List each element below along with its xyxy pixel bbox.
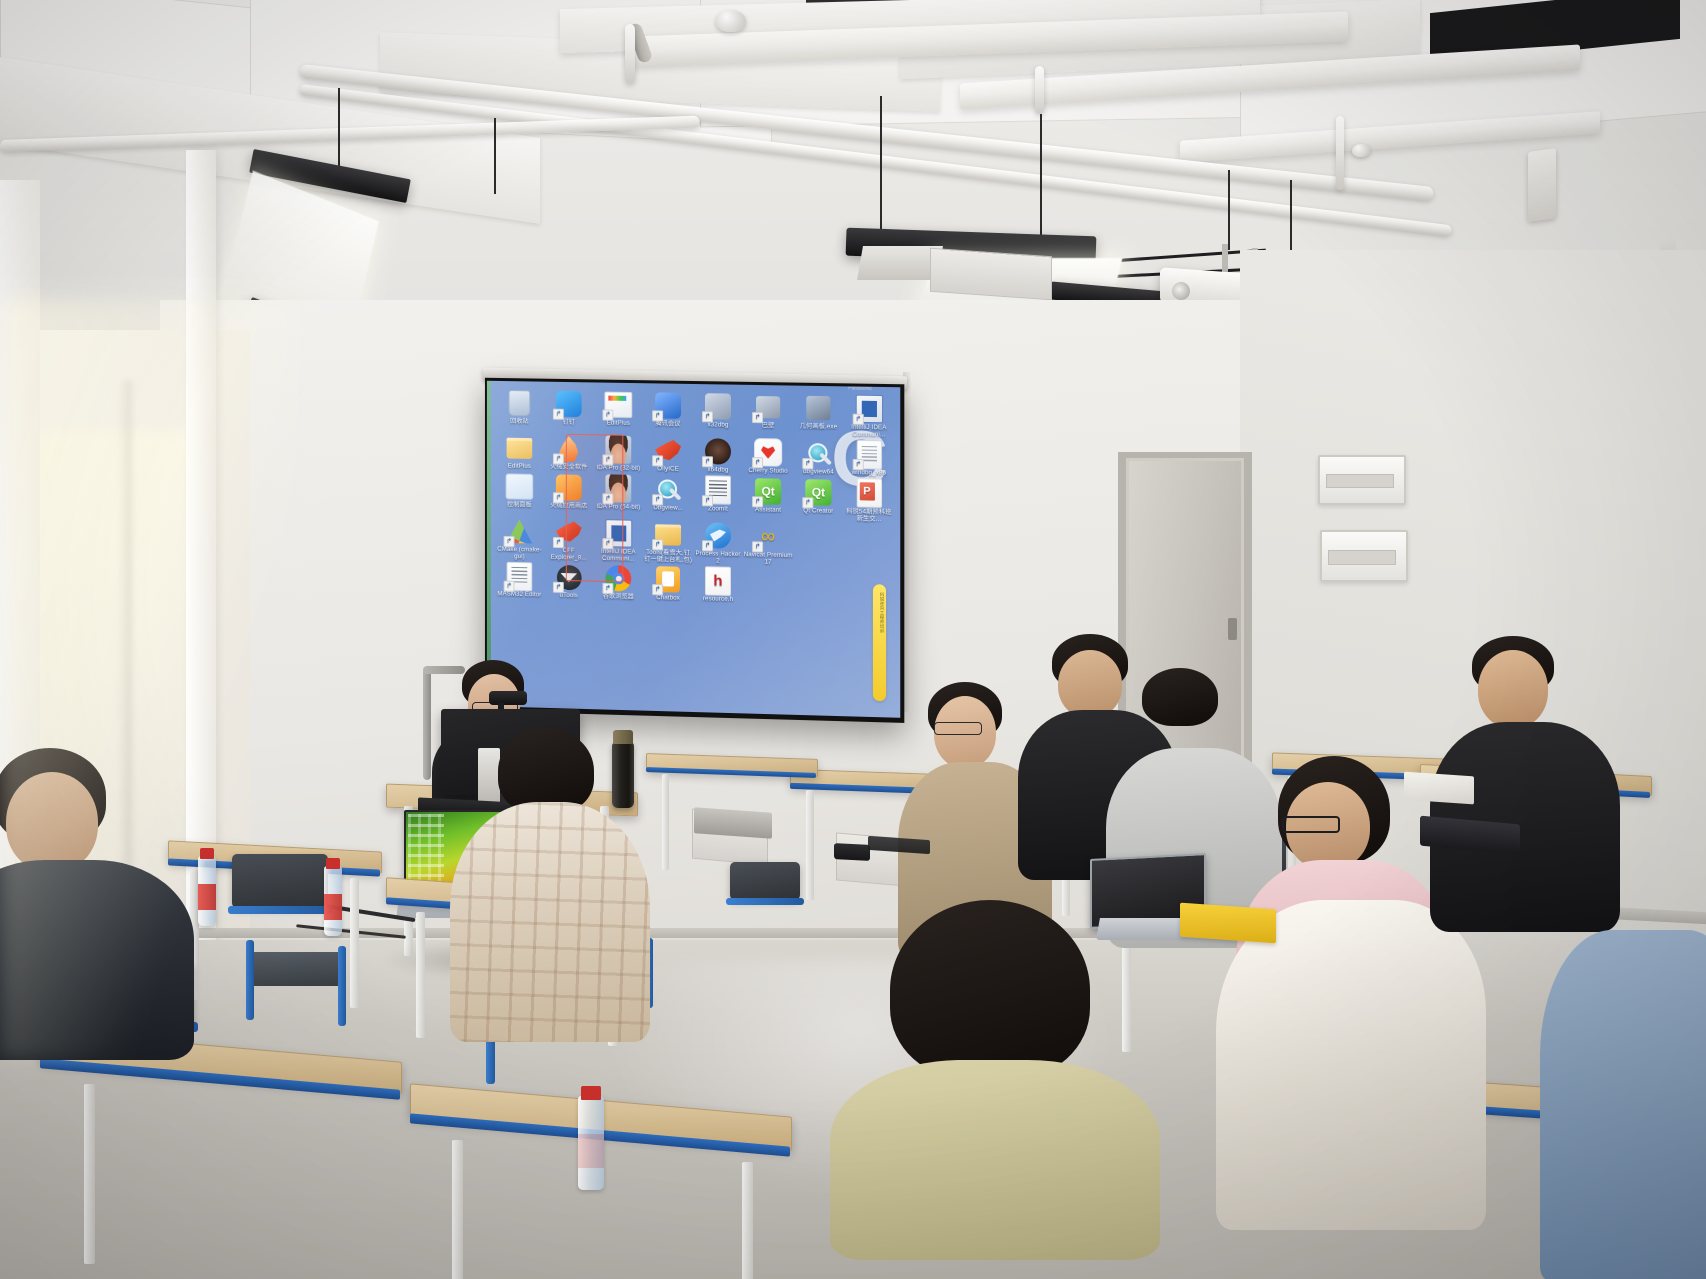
desktop-icon-label: CMake (cmake-gui)	[495, 546, 544, 561]
bottle-label	[198, 884, 216, 910]
desktop-icon-label: resource.h	[703, 596, 733, 604]
classroom-photo: C 回收站钉钉EditPlus腾讯会议x32dbg巴壁几何画板.exeIntel…	[0, 0, 1706, 1279]
side-banner: 科锐逆向工程师培训	[873, 584, 886, 701]
desk-leg	[806, 790, 814, 900]
wall-device	[1528, 148, 1556, 222]
desktop-icon-glyph	[704, 521, 732, 550]
desktop-icon[interactable]: IntelliJ IDEA Communi...	[844, 392, 895, 439]
desktop-icon-glyph	[506, 434, 534, 462]
desktop-icon[interactable]: Dbgview...	[643, 473, 693, 519]
desktop-icon-label: x64dbg	[708, 467, 729, 475]
bottle-label	[578, 1134, 604, 1168]
desktop-icon-glyph	[704, 476, 732, 505]
desktop-icon-label: x32dbg	[708, 421, 729, 429]
desktop-icon-glyph	[855, 395, 883, 424]
screen-brand-label: Panasonic	[848, 385, 872, 391]
desktop-icon-glyph	[506, 517, 534, 545]
desktop-icon-glyph	[704, 438, 732, 467]
panel-slot	[1328, 550, 1396, 565]
projection-screen[interactable]: C 回收站钉钉EditPlus腾讯会议x32dbg巴壁几何画板.exeIntel…	[487, 381, 900, 718]
desktop-icon[interactable]: x64dbg	[693, 435, 743, 474]
desktop-icon[interactable]: 巴壁	[743, 391, 793, 437]
desktop-icon-label: Dbgview...	[653, 504, 682, 512]
desktop-icon-label: windbg_x86	[852, 469, 886, 477]
student-head	[1058, 650, 1122, 718]
hanging-wire	[338, 88, 340, 168]
student-glasses	[1282, 816, 1340, 833]
desktop-icon-glyph	[604, 391, 632, 419]
desktop-icon-label: Cherry Studio	[748, 467, 787, 475]
desktop-icon-label: uTools	[560, 592, 578, 600]
desktop-icon-glyph: ∞	[754, 522, 782, 551]
desktop-icon[interactable]: EditPlus	[594, 388, 644, 434]
desktop-icon-label: Tools(看雪大.钉钉一键上台札.包)	[643, 549, 693, 564]
desk-leg	[350, 878, 359, 1008]
desktop-icon[interactable]: CMake (cmake-gui)	[495, 515, 544, 561]
desktop-icon[interactable]: 控制面板	[495, 470, 544, 516]
desktop-icon-glyph	[654, 475, 682, 504]
desktop-icon-glyph	[654, 520, 682, 549]
desktop-icon-label: Navicat Premium 17	[743, 551, 793, 567]
bottle-cap	[200, 848, 214, 859]
desktop-icon[interactable]: 科锐54期预科班新生交...	[844, 476, 895, 523]
desktop-icon-row: MASM32 EditoruTools谷歌浏览器Chatboxhresource…	[495, 560, 898, 608]
desk-leg	[84, 1084, 95, 1264]
desk-cable-tray	[694, 807, 772, 838]
laptop-desktop-icons	[408, 814, 444, 888]
desktop-icon[interactable]: Tools(看雪大.钉钉一键上台札.包)	[643, 518, 693, 564]
desktop-icon[interactable]: Process Hacker 2	[693, 519, 743, 566]
desk-leg	[1122, 932, 1131, 1052]
projector-lens	[1172, 282, 1190, 300]
desktop-icon-label: ZoomIt	[708, 505, 728, 513]
desktop-icon-grid: 回收站钉钉EditPlus腾讯会议x32dbg巴壁几何画板.exeIntelli…	[495, 387, 898, 608]
door-handle[interactable]	[1228, 618, 1237, 640]
desktop-icon-glyph	[654, 391, 682, 419]
desktop-icon[interactable]: ∞Navicat Premium 17	[743, 520, 793, 567]
desktop-icon-label: MASM32 Editor	[497, 591, 541, 599]
chair-frame	[228, 906, 332, 914]
desktop-icon-row: CMake (cmake-gui)CFF Explorer_8...Intell…	[495, 515, 898, 569]
desktop-icon[interactable]: hresource.h	[693, 564, 743, 603]
chair-frame	[246, 940, 254, 1020]
desktop-icon-glyph: Qt	[804, 478, 832, 507]
desktop-icon-glyph	[855, 479, 883, 508]
desk-leg	[662, 774, 669, 870]
thermos-cap	[613, 730, 633, 744]
desktop-icon-label: 科锐54期预科班新生交...	[844, 508, 895, 524]
icon-art	[509, 390, 531, 416]
desktop-icon[interactable]: QtQt Creator	[793, 476, 843, 523]
desktop-icon-glyph	[555, 390, 583, 418]
jacket-pattern	[450, 802, 650, 1042]
desktop-icon-label: 谷歌浏览器	[603, 593, 634, 601]
desktop-icon-glyph	[506, 472, 534, 500]
chair-frame	[338, 946, 346, 1026]
desktop-icon-label: OllyICE	[657, 466, 679, 474]
desktop-icon[interactable]: 回收站	[495, 387, 544, 433]
desktop-icon-glyph	[754, 438, 782, 467]
desktop-icon-label: EditPlus	[508, 463, 531, 471]
desktop-icon-label: 控制面板	[507, 501, 532, 509]
desktop-icon-glyph	[804, 394, 832, 423]
mic-boom-arm	[423, 668, 431, 780]
student-notebook	[1404, 772, 1474, 805]
chair-back	[232, 854, 328, 908]
desktop-icon-label: 巴壁	[762, 422, 775, 429]
desktop-icon-glyph: Qt	[754, 477, 782, 506]
desktop-icon[interactable]: 钉钉	[544, 388, 593, 434]
mic-boom-arm	[423, 666, 465, 674]
icon-art	[506, 473, 534, 499]
desktop-icon-glyph	[704, 392, 732, 420]
student-glasses	[934, 722, 982, 735]
drop-pipe	[625, 24, 635, 84]
desktop-icon-label: Qt Creator	[803, 507, 833, 515]
ceiling-camera	[716, 10, 746, 32]
desktop-icon[interactable]: windbg_x86	[844, 438, 895, 477]
student-head	[1478, 650, 1548, 728]
panel-slot	[1326, 474, 1394, 488]
desktop-icon[interactable]: Chatbox	[643, 563, 693, 602]
desktop-icon-glyph	[654, 566, 682, 595]
hanging-wire	[1290, 180, 1292, 256]
drop-pipe	[1336, 116, 1344, 190]
thermos-flask	[612, 742, 634, 808]
icon-art	[507, 438, 533, 459]
desktop-icon-label: 腾讯会议	[656, 420, 681, 428]
student-hair	[890, 900, 1090, 1080]
desktop-icon-label: 钉钉	[563, 419, 575, 426]
desktop-icon[interactable]: 几何画板.exe	[793, 392, 843, 438]
student-phone[interactable]	[834, 843, 870, 861]
student-torso	[1216, 900, 1486, 1230]
student-head	[6, 772, 98, 872]
ceiling-camera	[1352, 144, 1370, 157]
yellow-notebook	[1180, 903, 1276, 944]
desk-leg	[742, 1162, 753, 1279]
pc-tower	[478, 748, 500, 806]
hanging-wire	[1228, 170, 1230, 250]
desktop-icon-glyph: h	[704, 567, 732, 596]
student-torso	[830, 1060, 1160, 1260]
chair-frame	[726, 898, 804, 905]
student-head	[1148, 684, 1212, 754]
desktop-icon[interactable]: QtAssistant	[743, 475, 793, 522]
desktop-icon-label: Chatbox	[656, 595, 680, 603]
chair-seat	[250, 952, 346, 986]
desktop-icon-row: 回收站钉钉EditPlus腾讯会议x32dbg巴壁几何画板.exeIntelli…	[495, 387, 898, 439]
hanging-wire	[880, 96, 882, 236]
desktop-icon[interactable]: EditPlus	[495, 432, 544, 471]
desktop-icon-glyph	[506, 562, 534, 590]
desktop-icon-row: EditPlus火绒安全软件IDA Pro (32-bit)OllyICEx64…	[495, 432, 898, 478]
bottle-label	[324, 894, 342, 920]
icon-art	[806, 396, 830, 421]
desktop-icon[interactable]: x32dbg	[693, 390, 743, 436]
hanging-wire	[494, 118, 496, 194]
desktop-icon-label: EditPlus	[607, 420, 630, 428]
desktop-icon-glyph	[855, 440, 883, 469]
desktop-icon-glyph	[754, 393, 782, 422]
desk-leg	[416, 912, 425, 1038]
desktop-icon[interactable]: ZoomIt	[693, 474, 743, 520]
student-torso	[0, 860, 194, 1060]
student-torso	[1540, 930, 1706, 1279]
desktop-icon[interactable]: MASM32 Editor	[495, 560, 544, 599]
screen-edge-tint	[487, 381, 491, 707]
desktop-icon-glyph	[506, 389, 534, 417]
desktop-icon[interactable]: Cherry Studio	[743, 436, 793, 475]
bottle-cap	[326, 858, 340, 869]
desktop-icon-label: IntelliJ IDEA Communi...	[844, 424, 895, 439]
chair-back	[730, 862, 800, 900]
desk-leg	[452, 1140, 463, 1279]
projector-mount	[1222, 244, 1228, 274]
projection-screen-frame: C 回收站钉钉EditPlus腾讯会议x32dbg巴壁几何画板.exeIntel…	[485, 378, 904, 723]
ceiling-vent	[930, 248, 1052, 301]
desktop-icon[interactable]: 腾讯会议	[643, 389, 693, 435]
desktop-icon-label: Assistant	[755, 506, 781, 514]
desktop-icon-glyph	[804, 439, 832, 468]
icon-art: h	[705, 566, 731, 596]
desktop-icon-glyph	[654, 437, 682, 465]
desktop-icon-label: Process Hacker 2	[693, 550, 743, 566]
desktop-icon-label: 回收站	[510, 418, 529, 425]
desktop-icon-label: 几何画板.exe	[800, 423, 838, 431]
selection-rectangle	[566, 434, 623, 583]
icon-art	[856, 478, 881, 508]
desktop-icon-label: dbgview64	[803, 468, 834, 476]
side-banner-text: 科锐逆向工程师培训	[875, 592, 884, 633]
desktop-icon[interactable]: OllyICE	[643, 435, 693, 474]
webcam[interactable]	[489, 691, 527, 705]
bottle-cap	[581, 1086, 601, 1100]
desktop-icon[interactable]: dbgview64	[793, 437, 843, 476]
drop-pipe	[1035, 66, 1044, 114]
